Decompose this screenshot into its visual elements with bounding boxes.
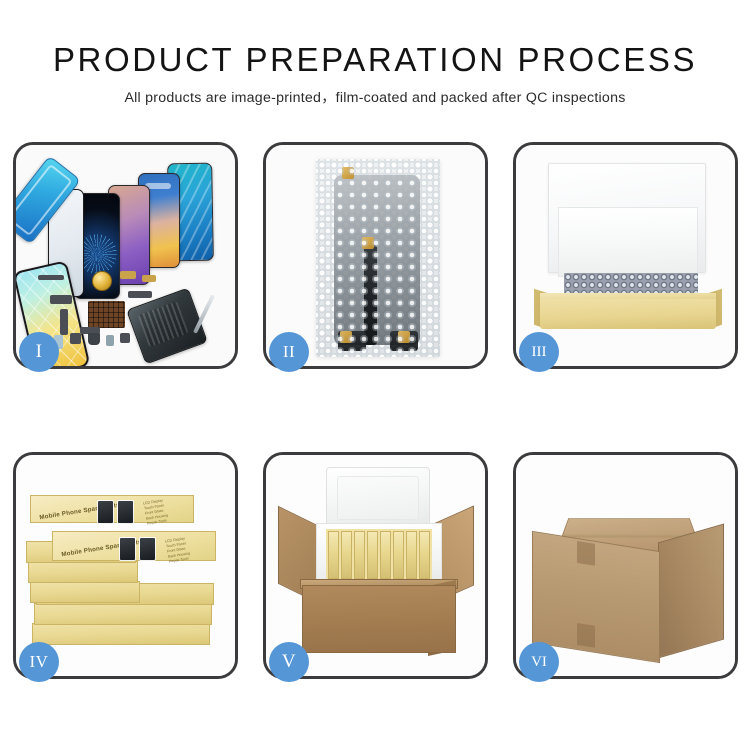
product-preparation-infographic: PRODUCT PREPARATION PROCESS All products… <box>0 0 750 750</box>
tape-tab-lower-left <box>340 331 352 343</box>
box-front-kraft <box>540 299 716 329</box>
step-badge-2: II <box>269 332 309 372</box>
lcd-screen-inside <box>334 175 420 345</box>
process-step-4: Mobile Phone Spare Parts LCD Display Tou… <box>13 452 238 679</box>
carton-right-face <box>658 524 724 659</box>
box-lid-screens-lower <box>119 537 156 561</box>
tape-tab-top <box>342 167 354 179</box>
header: PRODUCT PREPARATION PROCESS All products… <box>0 0 750 107</box>
screw-cap-part <box>106 335 114 346</box>
step-badge-3: III <box>519 332 559 372</box>
stacked-box-6 <box>32 623 210 645</box>
process-step-3: III <box>513 142 738 369</box>
step-6-image <box>516 455 735 676</box>
lid-screen-thumb <box>139 537 156 561</box>
vibrator-part <box>88 333 100 345</box>
packed-box <box>328 531 339 579</box>
step-badge-4: IV <box>19 642 59 682</box>
page-subtitle: All products are image-printed，film-coat… <box>0 87 750 107</box>
foam-sheet <box>558 207 698 277</box>
step-3-image <box>516 145 735 366</box>
process-step-6: VI <box>513 452 738 679</box>
vibration-motor-part <box>92 271 112 291</box>
lid-screen-thumb <box>119 537 136 561</box>
bubble-wrap-bag <box>316 159 440 357</box>
step-badge-1: I <box>19 332 59 372</box>
packed-boxes-row <box>326 529 432 581</box>
connector-chip-part <box>88 301 125 328</box>
stacked-box-5 <box>34 603 212 625</box>
packed-box <box>367 531 378 579</box>
carton-tape-lower <box>577 623 595 648</box>
stacked-box-3b <box>30 581 140 603</box>
carton-front-face <box>532 531 660 663</box>
process-step-5: V <box>263 452 488 679</box>
step-1-image <box>16 145 235 366</box>
foam-cooler-lid <box>326 467 430 531</box>
packed-box <box>406 531 417 579</box>
tape-tab-lower-right <box>398 331 410 343</box>
carton-front-panel <box>302 585 456 653</box>
box-lid-screens-top <box>97 500 134 524</box>
box-stack: Mobile Phone Spare Parts LCD Display Tou… <box>22 473 232 663</box>
step-4-image: Mobile Phone Spare Parts LCD Display Tou… <box>16 455 235 676</box>
step-5-image <box>266 455 485 676</box>
gold-clip-part <box>142 275 156 282</box>
packed-box <box>380 531 391 579</box>
packed-box <box>393 531 404 579</box>
carton-tape-upper <box>577 541 595 566</box>
tape-tab-middle <box>362 237 374 249</box>
step-2-image <box>266 145 485 366</box>
gold-bracket-part <box>120 271 136 279</box>
packed-box <box>341 531 352 579</box>
sealed-carton <box>530 479 724 653</box>
bracket-part <box>70 333 81 344</box>
step-badge-6: VI <box>519 642 559 682</box>
speaker-mesh-part <box>38 275 64 280</box>
page-title: PRODUCT PREPARATION PROCESS <box>0 42 750 78</box>
process-step-2: II <box>263 142 488 369</box>
flex-connector-left <box>338 331 366 351</box>
stacked-box-2b <box>28 561 138 583</box>
camera-flex-part <box>128 291 152 298</box>
stacked-box-labelled-lower: Mobile Phone Spare Parts LCD Display Tou… <box>52 531 216 561</box>
packed-box <box>419 531 430 579</box>
step-badge-5: V <box>269 642 309 682</box>
side-cable-part <box>60 309 68 335</box>
flex-strip-part <box>50 295 72 304</box>
button-part <box>120 333 130 343</box>
lid-screen-thumb <box>117 500 134 524</box>
packed-box <box>354 531 365 579</box>
screen-flex-cable <box>364 245 377 345</box>
lid-screen-thumb <box>97 500 114 524</box>
flex-connector-right <box>390 331 418 351</box>
process-step-1: I <box>13 142 238 369</box>
stacked-box-labelled-top: Mobile Phone Spare Parts LCD Display Tou… <box>30 495 194 523</box>
process-step-grid: I II <box>13 142 738 679</box>
